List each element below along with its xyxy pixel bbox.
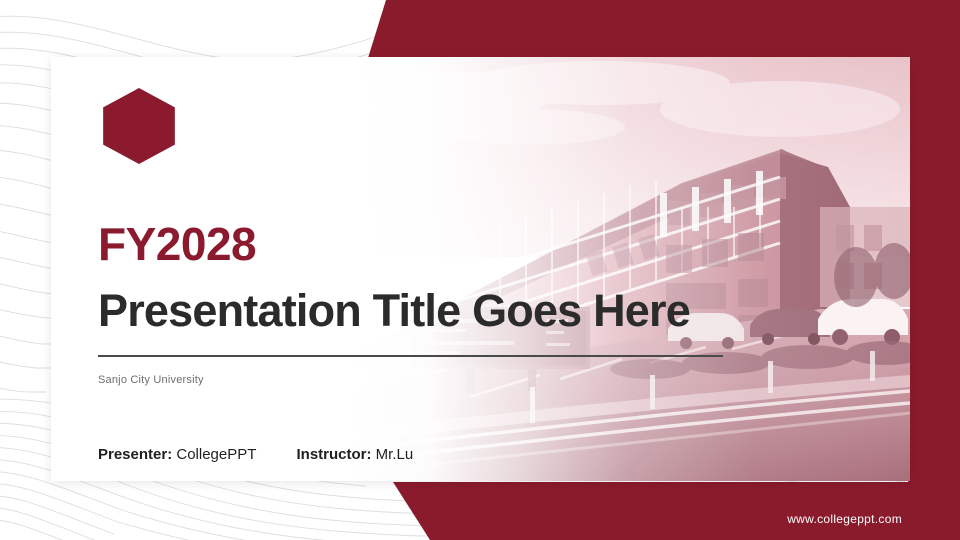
- bottom-red-band: [0, 482, 960, 540]
- presenter-label: Presenter:: [98, 446, 172, 463]
- top-red-band: [0, 0, 960, 58]
- content-card: FY2028 Presentation Title Goes Here Sanj…: [51, 57, 910, 481]
- right-red-band: [908, 0, 960, 540]
- title-divider-rule: [98, 355, 723, 357]
- presentation-slide: FY2028 Presentation Title Goes Here Sanj…: [0, 0, 960, 540]
- university-hexagon-crest-logo: [103, 88, 175, 164]
- instructor-label: Instructor:: [297, 446, 372, 463]
- fiscal-year-heading: FY2028: [98, 221, 256, 267]
- credits-line: Presenter: CollegePPT Instructor: Mr.Lu: [98, 446, 413, 463]
- campus-building-photo: [350, 57, 910, 481]
- page-title: Presentation Title Goes Here: [98, 287, 690, 334]
- instructor-name: Mr.Lu: [376, 446, 414, 463]
- institution-name: Sanjo City University: [98, 374, 204, 386]
- footer-website-url[interactable]: www.collegeppt.com: [787, 512, 902, 526]
- presenter-name: CollegePPT: [176, 446, 256, 463]
